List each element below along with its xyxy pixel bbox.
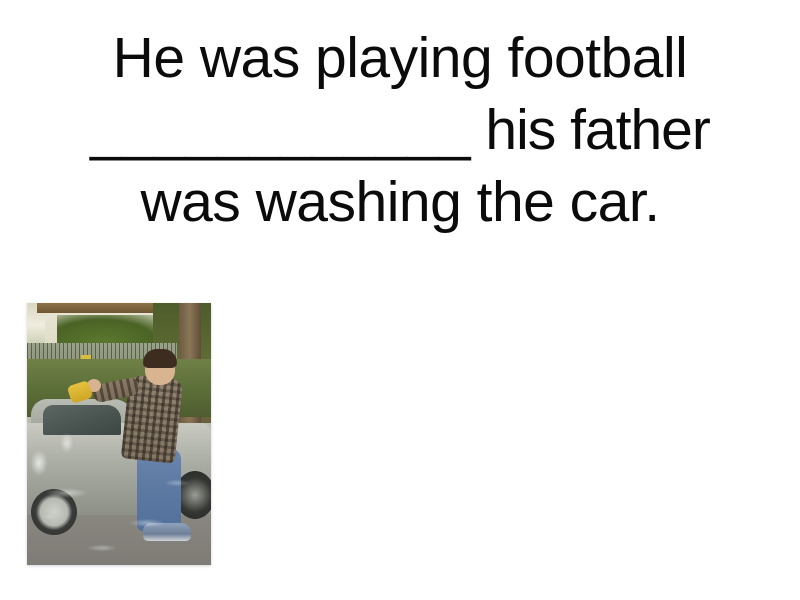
question-line-1: He was playing football [0, 22, 800, 94]
question-line-3: was washing the car. [0, 166, 800, 238]
quiz-stage: He was playing football ____________ his… [0, 0, 800, 600]
answer-options: while when [0, 300, 800, 580]
question-line-2-text: his father [471, 98, 710, 162]
answer-blank: ____________ [90, 98, 470, 162]
question-prompt: He was playing football ____________ his… [0, 22, 800, 238]
question-line-2: ____________ his father [0, 94, 800, 166]
